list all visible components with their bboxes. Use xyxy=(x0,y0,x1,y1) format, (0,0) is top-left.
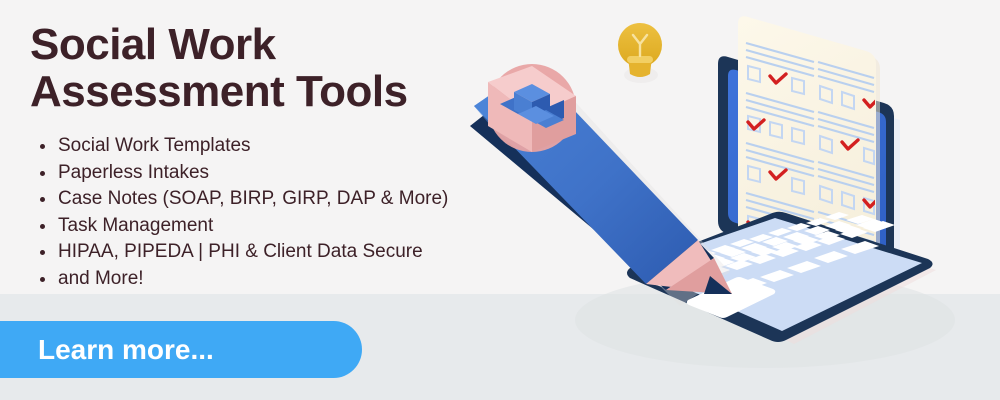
page-title: Social Work Assessment Tools xyxy=(30,22,550,115)
list-item: HIPAA, PIPEDA | PHI & Client Data Secure xyxy=(30,239,550,266)
learn-more-button[interactable]: Learn more... xyxy=(0,321,362,378)
list-item: Paperless Intakes xyxy=(30,160,550,187)
banner-copy: Social Work Assessment Tools Social Work… xyxy=(30,22,550,292)
list-item: Task Management xyxy=(30,213,550,240)
feature-list: Social Work Templates Paperless Intakes … xyxy=(30,133,550,292)
list-item: and More! xyxy=(30,266,550,293)
list-item: Case Notes (SOAP, BIRP, GIRP, DAP & More… xyxy=(30,186,550,213)
list-item: Social Work Templates xyxy=(30,133,550,160)
lightbulb-icon xyxy=(618,23,662,83)
promo-banner: Social Work Assessment Tools Social Work… xyxy=(0,0,1000,400)
